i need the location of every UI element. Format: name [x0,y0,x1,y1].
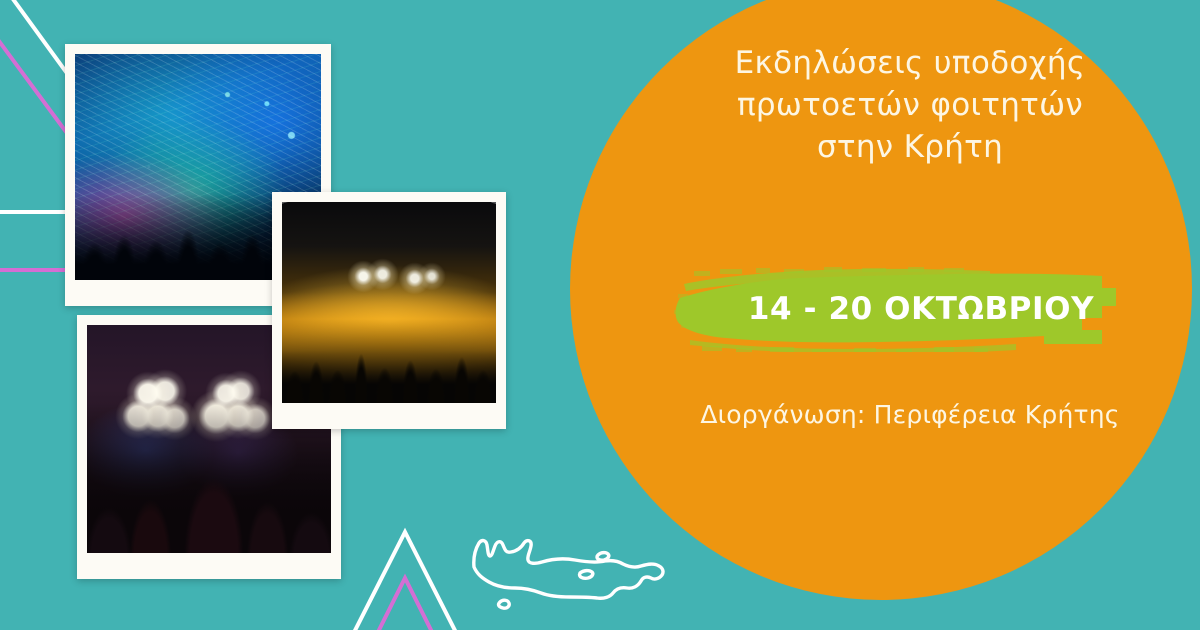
event-poster: Εκδηλώσεις υποδοχής πρωτοετών φοιτητών σ… [0,0,1200,630]
date-badge-text: 14 - 20 ΟΚΤΩΒΡΙΟΥ [672,266,1142,352]
triangle-outline-magenta-bottom [358,578,452,630]
photo-image-amber-stage [282,202,496,403]
headline: Εκδηλώσεις υποδοχής πρωτοετών φοιτητών σ… [660,42,1160,168]
organizer-text: Διοργάνωση: Περιφέρεια Κρήτης [660,400,1160,429]
date-badge: 14 - 20 ΟΚΤΩΒΡΙΟΥ [672,266,1142,352]
headline-line-2: πρωτοετών φοιτητών [660,84,1160,126]
headline-line-3: στην Κρήτη [660,126,1160,168]
crete-map-icon [474,541,663,609]
photo-frame-amber-stage [272,192,506,429]
headline-line-1: Εκδηλώσεις υποδοχής [660,42,1160,84]
triangle-outline-white-bottom [340,532,470,630]
